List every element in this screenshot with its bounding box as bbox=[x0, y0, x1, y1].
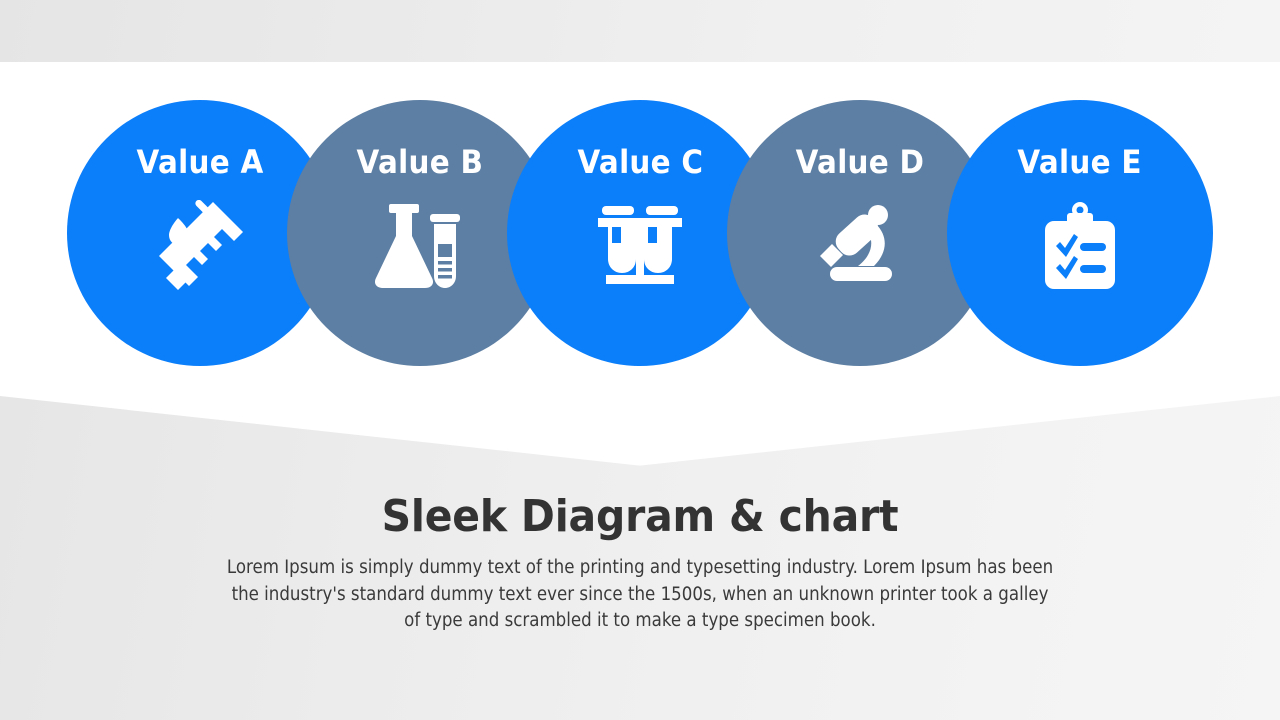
page-title: Sleek Diagram & chart bbox=[45, 492, 1235, 541]
node-label-value-c: Value C bbox=[577, 146, 703, 178]
microscope-icon bbox=[808, 198, 912, 294]
page-description: Lorem Ipsum is simply dummy text of the … bbox=[222, 555, 1059, 634]
process-chain: Value A Value B bbox=[0, 0, 1280, 400]
syringe-icon bbox=[148, 198, 252, 294]
test-tube-rack-icon bbox=[588, 198, 692, 294]
clipboard-check-icon bbox=[1028, 198, 1132, 294]
slide-canvas: Value A Value B bbox=[0, 0, 1280, 720]
process-node-value-e[interactable]: Value E bbox=[947, 100, 1213, 366]
node-label-value-b: Value B bbox=[357, 146, 484, 178]
flask-test-tube-icon bbox=[368, 198, 472, 294]
node-label-value-d: Value D bbox=[796, 146, 925, 178]
footer-block: Sleek Diagram & chart Lorem Ipsum is sim… bbox=[0, 492, 1280, 634]
node-label-value-e: Value E bbox=[1018, 146, 1142, 178]
node-label-value-a: Value A bbox=[136, 146, 263, 178]
